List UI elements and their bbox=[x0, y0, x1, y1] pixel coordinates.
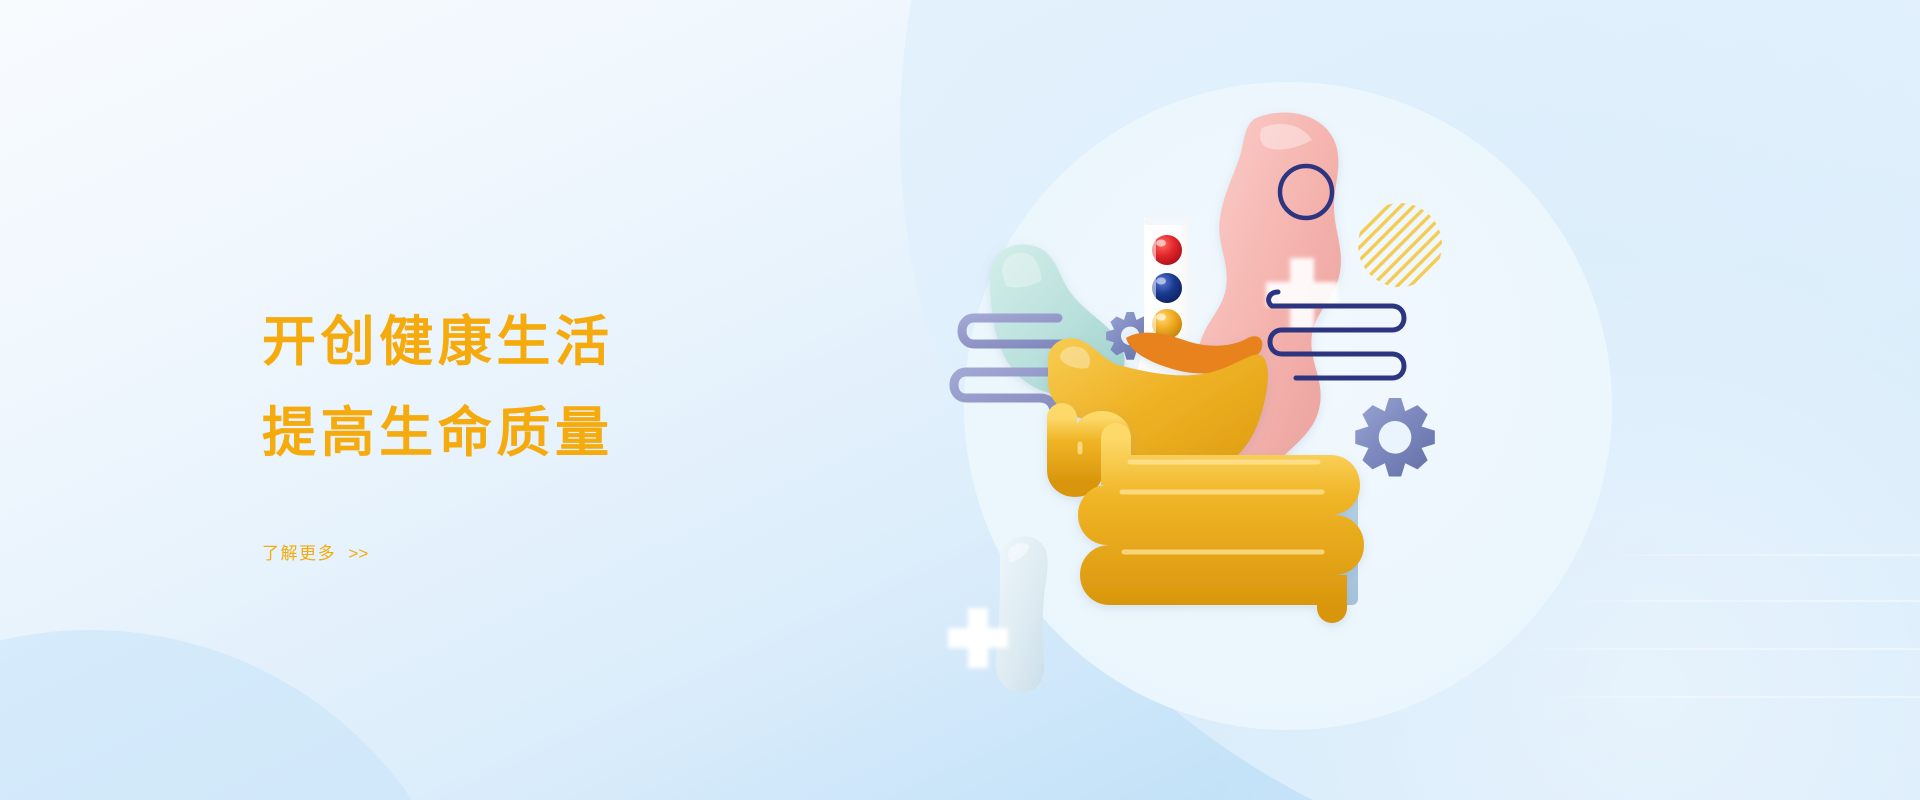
learn-more-link[interactable]: 了解更多 >> bbox=[262, 539, 368, 564]
digestive-health-illustration bbox=[930, 0, 1690, 800]
gear-large bbox=[1355, 398, 1435, 477]
pill-red bbox=[1152, 235, 1182, 265]
illustration-svg bbox=[930, 0, 1690, 800]
hero-banner: 开创健康生活 提高生命质量 了解更多 >> bbox=[0, 0, 1920, 800]
headline-line-2: 提高生命质量 bbox=[262, 391, 882, 476]
pill-navy bbox=[1152, 273, 1182, 303]
hero-copy: 开创健康生活 提高生命质量 了解更多 >> bbox=[262, 300, 882, 564]
hatched-circle bbox=[1358, 203, 1442, 287]
headline-line-1: 开创健康生活 bbox=[262, 300, 882, 385]
learn-more-label: 了解更多 bbox=[262, 544, 336, 563]
background-circle-bottom-left bbox=[0, 630, 480, 800]
white-capsule bbox=[996, 536, 1048, 692]
chevron-right-icon: >> bbox=[348, 544, 368, 563]
